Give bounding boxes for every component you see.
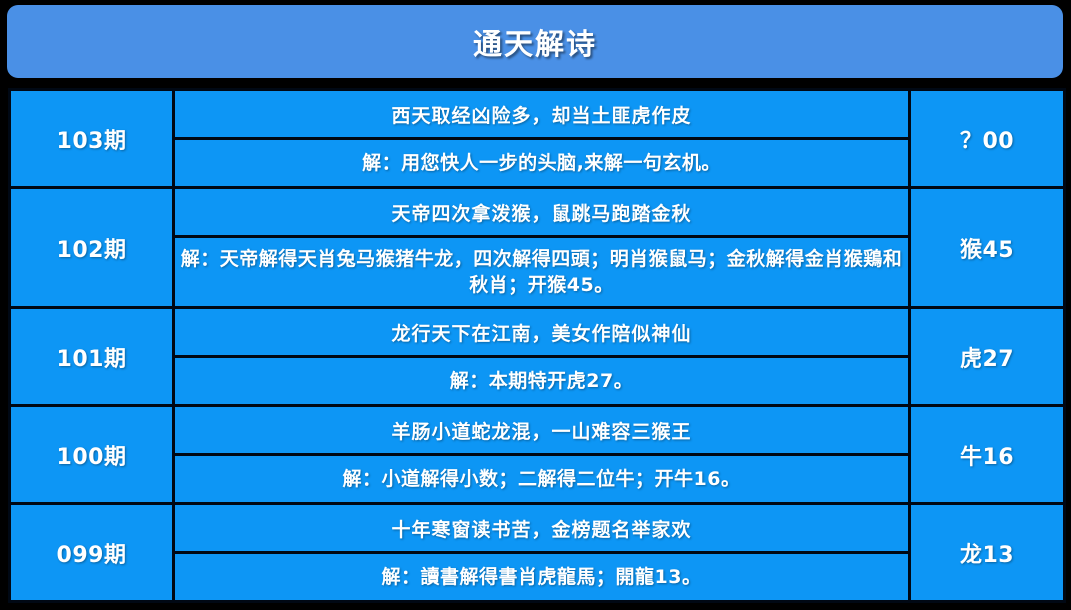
period-label: 102期 — [10, 188, 174, 308]
period-label: 101期 — [10, 308, 174, 406]
explanation-text: 解：用您快人一步的头脑,来解一句玄机。 — [174, 139, 910, 188]
poem-text: 十年寒窗读书苦，金榜题名举家欢 — [174, 504, 910, 553]
explanation-text: 解：小道解得小数；二解得二位牛；开牛16。 — [174, 455, 910, 504]
table-row[interactable]: 103期 西天取经凶险多，却当土匪虎作皮 ？00 — [10, 90, 1065, 139]
period-label: 100期 — [10, 406, 174, 504]
explanation-text: 解：本期特开虎27。 — [174, 357, 910, 406]
result-value: 虎27 — [910, 308, 1065, 406]
explanation-text: 解：讀書解得書肖虎龍馬；開龍13。 — [174, 553, 910, 602]
page-title: 通天解诗 — [473, 21, 597, 63]
table-row[interactable]: 101期 龙行天下在江南，美女作陪似神仙 虎27 — [10, 308, 1065, 357]
poem-text: 羊肠小道蛇龙混，一山难容三猴王 — [174, 406, 910, 455]
page-header-banner: 通天解诗 — [7, 5, 1063, 78]
result-value: ？00 — [910, 90, 1065, 188]
poem-solution-table: 103期 西天取经凶险多，却当土匪虎作皮 ？00 解：用您快人一步的头脑,来解一… — [8, 88, 1066, 603]
period-label: 099期 — [10, 504, 174, 602]
table-row[interactable]: 100期 羊肠小道蛇龙混，一山难容三猴王 牛16 — [10, 406, 1065, 455]
explanation-text: 解：天帝解得天肖兔马猴猪牛龙，四次解得四頭；明肖猴鼠马；金秋解得金肖猴鶏和秋肖；… — [174, 237, 910, 308]
result-value: 猴45 — [910, 188, 1065, 308]
table-row[interactable]: 102期 天帝四次拿泼猴，鼠跳马跑踏金秋 猴45 — [10, 188, 1065, 237]
result-value: 牛16 — [910, 406, 1065, 504]
table-row[interactable]: 099期 十年寒窗读书苦，金榜题名举家欢 龙13 — [10, 504, 1065, 553]
poem-text: 天帝四次拿泼猴，鼠跳马跑踏金秋 — [174, 188, 910, 237]
poem-text: 西天取经凶险多，却当土匪虎作皮 — [174, 90, 910, 139]
result-value: 龙13 — [910, 504, 1065, 602]
poem-text: 龙行天下在江南，美女作陪似神仙 — [174, 308, 910, 357]
period-label: 103期 — [10, 90, 174, 188]
